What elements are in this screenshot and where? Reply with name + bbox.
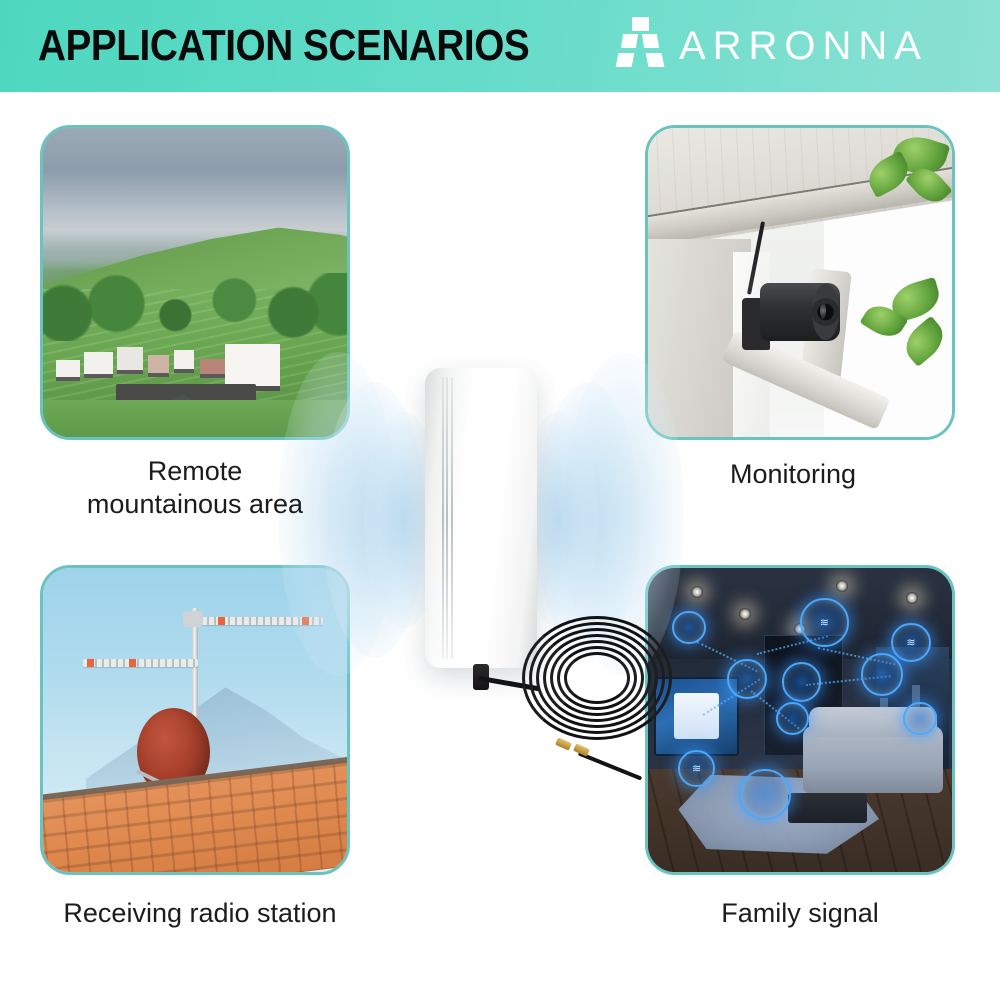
caption-line: Monitoring <box>730 458 955 491</box>
scenario-photo-monitoring <box>645 125 955 440</box>
product-coaxial-cable-coil <box>522 616 672 752</box>
brand-name: ARRONNA <box>679 24 928 69</box>
caption-line: mountainous area <box>30 488 360 521</box>
sma-connector-icon <box>555 737 572 750</box>
smart-panel-icon <box>727 659 767 699</box>
scenario-photo-remote-mountainous-area <box>40 125 350 440</box>
page-header: APPLICATION SCENARIOS ARRONNA <box>0 0 1000 92</box>
product-outdoor-panel-antenna <box>425 368 537 668</box>
scenario-photo-receiving-radio-station <box>40 565 350 875</box>
caption-line: Remote <box>30 455 360 488</box>
smart-display-icon <box>782 662 822 702</box>
infographic-page: APPLICATION SCENARIOS ARRONNA <box>0 0 1000 1000</box>
smart-lock-icon <box>861 653 904 696</box>
caption-receiving-radio-station: Receiving radio station <box>30 897 370 930</box>
smart-device-icon <box>672 611 705 644</box>
arronna-pyramid-a-logo-icon <box>617 15 663 77</box>
smart-switch-icon <box>776 702 809 735</box>
photo-satellite-dish-roof <box>43 568 347 872</box>
caption-line: Family signal <box>645 897 955 930</box>
photo-security-camera <box>648 128 952 437</box>
smart-monitor-icon <box>903 702 936 735</box>
wifi-icon: ≋ <box>800 598 849 647</box>
page-title: APPLICATION SCENARIOS <box>38 21 529 71</box>
wifi-icon: ≋ <box>678 750 714 786</box>
photo-mountain-village <box>43 128 347 437</box>
caption-family-signal: Family signal <box>645 897 955 930</box>
sma-connector-icon <box>573 743 590 756</box>
caption-line: Receiving radio station <box>30 897 370 930</box>
caption-monitoring: Monitoring <box>645 458 955 491</box>
caption-remote-mountainous-area: Remote mountainous area <box>30 455 360 521</box>
scenario-photo-family-signal: ≋ ≋ ≋ <box>645 565 955 875</box>
brand-lockup: ARRONNA <box>617 15 928 77</box>
smart-car-icon <box>739 769 791 821</box>
photo-smart-home: ≋ ≋ ≋ <box>648 568 952 872</box>
wifi-icon: ≋ <box>891 623 931 663</box>
